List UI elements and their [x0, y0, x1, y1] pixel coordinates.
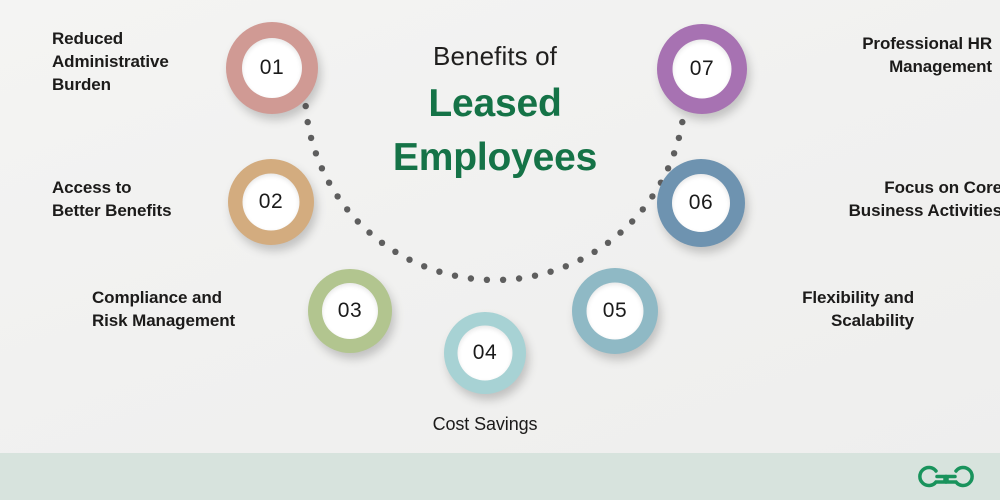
node-number-01: 01 [260, 56, 285, 80]
infographic-canvas: Benefits of Leased Employees 01Reduced A… [0, 0, 1000, 500]
node-04[interactable]: 04 [444, 312, 526, 394]
node-06[interactable]: 06 [657, 159, 745, 247]
node-01[interactable]: 01 [226, 22, 318, 114]
node-05[interactable]: 05 [572, 268, 658, 354]
node-ring-06: 06 [657, 159, 745, 247]
node-number-07: 07 [690, 57, 715, 81]
node-ring-05: 05 [572, 268, 658, 354]
node-07[interactable]: 07 [657, 24, 747, 114]
brand-bar [0, 453, 1000, 500]
node-03[interactable]: 03 [308, 269, 392, 353]
node-ring-03: 03 [308, 269, 392, 353]
node-label-02: Access to Better Benefits [52, 177, 212, 223]
node-label-03: Compliance and Risk Management [92, 287, 292, 333]
node-number-03: 03 [338, 299, 363, 323]
title-line-3: Employees [330, 135, 660, 181]
title-line-2: Leased [330, 81, 660, 127]
title-line-1: Benefits of [330, 40, 660, 73]
node-number-02: 02 [259, 190, 284, 214]
node-number-06: 06 [689, 191, 714, 215]
node-number-04: 04 [473, 341, 498, 365]
node-ring-07: 07 [657, 24, 747, 114]
title-block: Benefits of Leased Employees [330, 40, 660, 181]
node-ring-01: 01 [226, 22, 318, 114]
node-02[interactable]: 02 [228, 159, 314, 245]
node-number-05: 05 [603, 299, 628, 323]
node-label-06: Focus on Core Business Activities [762, 177, 1000, 223]
node-label-04: Cost Savings [405, 412, 565, 436]
node-label-01: Reduced Administrative Burden [52, 28, 212, 97]
node-ring-02: 02 [228, 159, 314, 245]
node-label-05: Flexibility and Scalability [684, 287, 914, 333]
node-label-07: Professional HR Management [762, 33, 992, 79]
node-ring-04: 04 [444, 312, 526, 394]
geeksforgeeks-logo [916, 461, 976, 491]
